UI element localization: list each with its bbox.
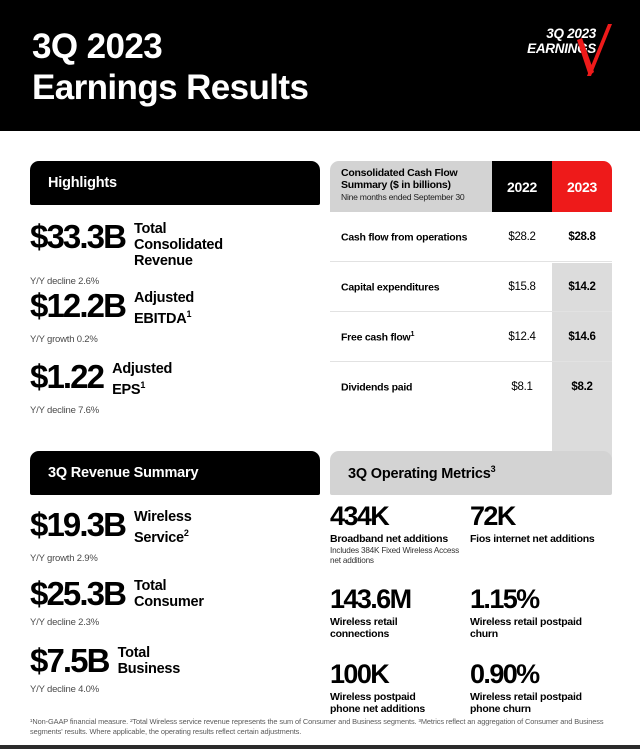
stat-label: Total Consolidated Revenue xyxy=(134,221,223,269)
operating-metrics-header-label: 3Q Operating Metrics3 xyxy=(330,464,495,482)
row-label: Capital expenditures xyxy=(330,280,492,294)
cell-2023: $14.2 xyxy=(552,281,612,293)
cell-2023: $14.6 xyxy=(552,331,612,343)
metric-sublabel: Includes 384K Fixed Wireless Access net … xyxy=(330,546,470,565)
stat-label: Adjusted EPS1 xyxy=(112,361,172,398)
table-row: Capital expenditures $15.8 $14.2 xyxy=(330,262,612,312)
highlights-header-label: Highlights xyxy=(30,175,117,191)
table-row: Cash flow from operations $28.2 $28.8 xyxy=(330,212,612,262)
cell-2022: $12.4 xyxy=(492,331,552,343)
page-header: 3Q 2023 Earnings Results 3Q 2023 EARNING… xyxy=(0,0,640,131)
cash-flow-title: Consolidated Cash Flow Summary ($ in bil… xyxy=(341,168,484,191)
stat-note: Y/Y decline 2.6% xyxy=(30,276,320,287)
row-label: Free cash flow1 xyxy=(330,330,492,344)
stat-value: $12.2B xyxy=(30,289,125,322)
metric-value: 143.6M xyxy=(330,585,470,614)
metric-label: Wireless retail postpaid phone churn xyxy=(470,691,616,715)
footer-rule xyxy=(0,745,640,749)
metric-wireless-retail-postpaid-phone-churn: 0.90% Wireless retail postpaid phone chu… xyxy=(470,660,616,715)
highlights-header-bar: Highlights xyxy=(30,161,320,205)
revenue-stat-total-business: $7.5B Total Business Y/Y decline 4.0% xyxy=(30,644,320,695)
cash-flow-subtitle: Nine months ended September 30 xyxy=(341,192,484,202)
row-label: Cash flow from operations xyxy=(330,230,492,244)
metric-label: Wireless postpaid phone net additions xyxy=(330,691,470,715)
earnings-logo: 3Q 2023 EARNINGS xyxy=(502,22,622,90)
revenue-stat-total-consumer: $25.3B Total Consumer Y/Y decline 2.3% xyxy=(30,577,320,628)
operating-metrics-grid: 434K Broadband net additions Includes 38… xyxy=(330,502,616,715)
highlight-stat-ebitda: $12.2B Adjusted EBITDA1 Y/Y growth 0.2% xyxy=(30,289,320,345)
revenue-summary-header-bar: 3Q Revenue Summary xyxy=(30,451,320,495)
footnotes: ¹Non-GAAP financial measure. ²Total Wire… xyxy=(30,717,616,736)
table-row: Free cash flow1 $12.4 $14.6 xyxy=(330,312,612,362)
operating-metrics-header-bar: 3Q Operating Metrics3 xyxy=(330,451,612,495)
stat-value: $25.3B xyxy=(30,577,125,610)
highlight-stat-eps: $1.22 Adjusted EPS1 Y/Y decline 7.6% xyxy=(30,360,320,416)
cash-flow-title-cell: Consolidated Cash Flow Summary ($ in bil… xyxy=(330,161,492,212)
column-header-2023: 2023 xyxy=(552,161,612,212)
revenue-summary-header-label: 3Q Revenue Summary xyxy=(30,465,198,481)
table-row: Dividends paid $8.1 $8.2 xyxy=(330,362,612,412)
cash-flow-table-body: Cash flow from operations $28.2 $28.8 Ca… xyxy=(330,212,612,412)
metric-label: Broadband net additions xyxy=(330,533,470,545)
stat-note: Y/Y decline 4.0% xyxy=(30,684,320,695)
metric-wireless-postpaid-phone-net-additions: 100K Wireless postpaid phone net additio… xyxy=(330,660,470,715)
metric-wireless-retail-connections: 143.6M Wireless retail connections xyxy=(330,585,470,640)
verizon-check-icon xyxy=(570,24,612,80)
metric-value: 1.15% xyxy=(470,585,616,614)
metric-fios-internet-net-additions: 72K Fios internet net additions xyxy=(470,502,616,565)
cell-2022: $28.2 xyxy=(492,231,552,243)
metric-value: 0.90% xyxy=(470,660,616,689)
cash-flow-table-header: Consolidated Cash Flow Summary ($ in bil… xyxy=(330,161,612,212)
stat-label: Wireless Service2 xyxy=(134,509,192,546)
stat-label: Total Consumer xyxy=(134,578,204,610)
earnings-infographic: 3Q 2023 Earnings Results 3Q 2023 EARNING… xyxy=(0,0,640,749)
metric-label: Wireless retail postpaid churn xyxy=(470,616,616,640)
cell-2023: $8.2 xyxy=(552,381,612,393)
stat-value: $19.3B xyxy=(30,508,125,541)
metric-wireless-retail-postpaid-churn: 1.15% Wireless retail postpaid churn xyxy=(470,585,616,640)
cell-2023: $28.8 xyxy=(552,231,612,243)
stat-value: $33.3B xyxy=(30,220,125,253)
metric-value: 434K xyxy=(330,502,470,531)
metric-value: 72K xyxy=(470,502,616,531)
row-label: Dividends paid xyxy=(330,380,492,394)
cell-2022: $8.1 xyxy=(492,381,552,393)
column-header-2022: 2022 xyxy=(492,161,552,212)
cash-flow-table: Consolidated Cash Flow Summary ($ in bil… xyxy=(330,161,612,412)
metric-value: 100K xyxy=(330,660,470,689)
stat-note: Y/Y growth 0.2% xyxy=(30,334,320,345)
stat-value: $1.22 xyxy=(30,360,103,393)
stat-note: Y/Y decline 2.3% xyxy=(30,617,320,628)
stat-footnote-marker: 1 xyxy=(140,380,145,390)
stat-value: $7.5B xyxy=(30,644,109,677)
stat-label: Adjusted EBITDA1 xyxy=(134,290,194,327)
stat-note: Y/Y growth 2.9% xyxy=(30,553,320,564)
stat-label: Total Business xyxy=(118,645,180,677)
metric-label: Fios internet net additions xyxy=(470,533,616,545)
cell-2022: $15.8 xyxy=(492,281,552,293)
stat-footnote-marker: 1 xyxy=(187,309,192,319)
revenue-stat-wireless-service: $19.3B Wireless Service2 Y/Y growth 2.9% xyxy=(30,508,320,564)
metric-broadband-net-additions: 434K Broadband net additions Includes 38… xyxy=(330,502,470,565)
stat-footnote-marker: 2 xyxy=(184,528,189,538)
page-title: 3Q 2023 Earnings Results xyxy=(32,26,308,108)
stat-note: Y/Y decline 7.6% xyxy=(30,405,320,416)
highlight-stat-revenue: $33.3B Total Consolidated Revenue Y/Y de… xyxy=(30,220,320,287)
metric-label: Wireless retail connections xyxy=(330,616,470,640)
